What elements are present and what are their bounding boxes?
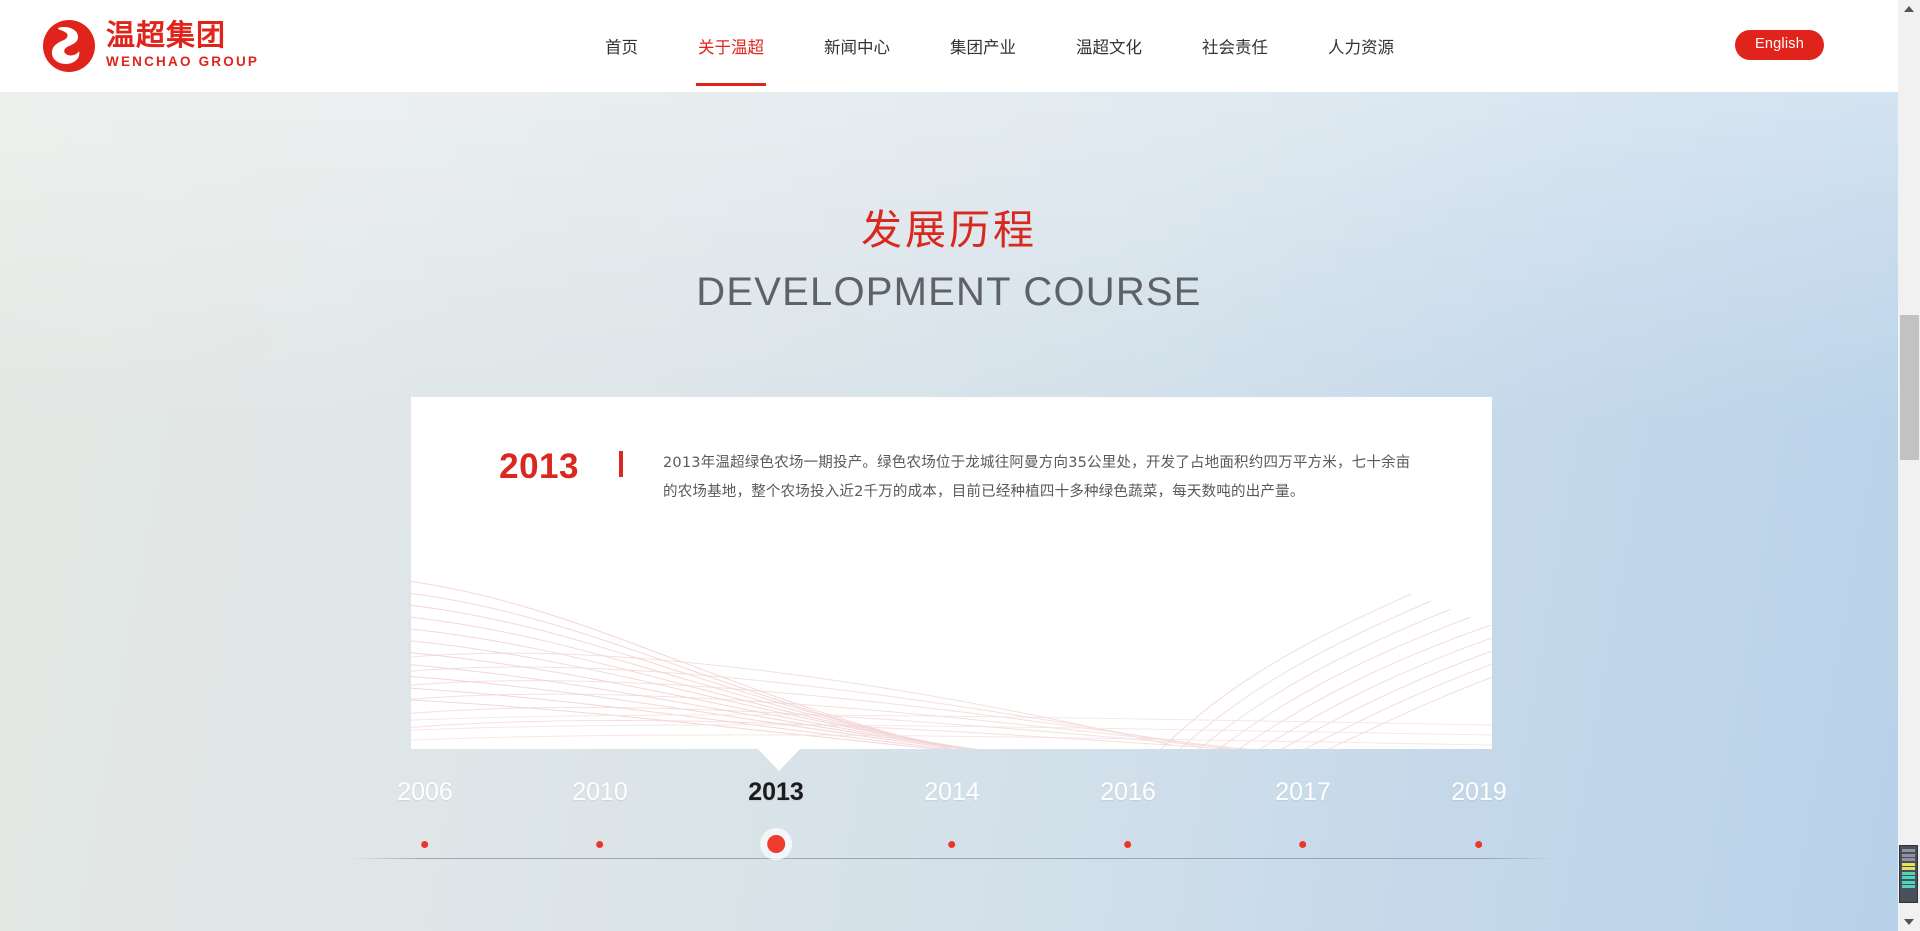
scroll-up-arrow-icon[interactable] <box>1898 0 1920 18</box>
nav-item-label: 人力资源 <box>1328 34 1394 58</box>
nav-item-label: 关于温超 <box>698 34 764 58</box>
timeline-year-label[interactable]: 2016 <box>1100 780 1156 805</box>
nav-item-2[interactable]: 新闻中心 <box>794 0 920 92</box>
timeline-item-2006[interactable]: 2006 <box>397 780 453 848</box>
nav-item-3[interactable]: 集团产业 <box>920 0 1046 92</box>
logo-title-en: WENCHAO GROUP <box>106 52 259 72</box>
gadget-bar-1 <box>1902 854 1915 857</box>
scrollbar-thumb[interactable] <box>1900 315 1919 460</box>
nav-item-1[interactable]: 关于温超 <box>668 0 794 92</box>
timeline-year-label[interactable]: 2017 <box>1275 780 1331 805</box>
nav-item-label: 首页 <box>605 34 638 58</box>
site-header: 温超集团 WENCHAO GROUP 首页关于温超新闻中心集团产业温超文化社会责… <box>0 0 1898 92</box>
nav-item-label: 社会责任 <box>1202 34 1268 58</box>
gadget-bar-0 <box>1902 849 1915 852</box>
gadget-bar-6 <box>1902 876 1915 879</box>
site-logo[interactable]: 温超集团 WENCHAO GROUP <box>42 0 259 92</box>
timeline-item-2019[interactable]: 2019 <box>1451 780 1507 848</box>
gadget-bar-2 <box>1902 858 1915 861</box>
timeline-dot-active[interactable] <box>767 835 785 853</box>
timeline-detail-card: 2013 2013年温超绿色农场一期投产。绿色农场位于龙城往阿曼方向35公里处，… <box>411 397 1492 749</box>
timeline-dot[interactable] <box>1476 841 1483 848</box>
page-title-cn: 发展历程 <box>0 205 1898 256</box>
timeline-item-2016[interactable]: 2016 <box>1100 780 1156 848</box>
nav-item-6[interactable]: 人力资源 <box>1298 0 1424 92</box>
nav-item-5[interactable]: 社会责任 <box>1172 0 1298 92</box>
main-navigation: 首页关于温超新闻中心集团产业温超文化社会责任人力资源 <box>575 0 1424 92</box>
timeline-dot[interactable] <box>597 841 604 848</box>
timeline-track: 2006201020132014201620172019 <box>0 780 1898 890</box>
page-viewport: 温超集团 WENCHAO GROUP 首页关于温超新闻中心集团产业温超文化社会责… <box>0 0 1920 931</box>
gadget-bar-5 <box>1902 872 1915 875</box>
timeline-year-label[interactable]: 2006 <box>397 780 453 805</box>
page-title-block: 发展历程 DEVELOPMENT COURSE <box>0 205 1898 322</box>
timeline-item-2013[interactable]: 2013 <box>748 780 804 853</box>
timeline-dot[interactable] <box>949 841 956 848</box>
gadget-bar-8 <box>1902 885 1915 888</box>
scroll-down-arrow-icon[interactable] <box>1898 913 1920 931</box>
card-pointer-arrow <box>758 749 800 771</box>
language-switch-button[interactable]: English <box>1735 30 1824 60</box>
wenchao-logo-icon <box>42 19 96 73</box>
timeline-line <box>350 858 1556 859</box>
gadget-bar-3 <box>1902 863 1915 866</box>
timeline-year-label[interactable]: 2014 <box>924 780 980 805</box>
card-year: 2013 <box>411 449 579 507</box>
timeline-item-2010[interactable]: 2010 <box>572 780 628 848</box>
timeline-dot[interactable] <box>1125 841 1132 848</box>
timeline-year-label[interactable]: 2013 <box>748 780 804 805</box>
decorative-wave-pattern <box>411 539 1492 749</box>
nav-item-label: 温超文化 <box>1076 34 1142 58</box>
card-description: 2013年温超绿色农场一期投产。绿色农场位于龙城往阿曼方向35公里处，开发了占地… <box>663 449 1492 507</box>
logo-title-cn: 温超集团 <box>106 20 259 50</box>
page-scrollbar[interactable] <box>1898 0 1920 931</box>
timeline-dot[interactable] <box>422 841 429 848</box>
timeline-item-2014[interactable]: 2014 <box>924 780 980 848</box>
timeline-year-label[interactable]: 2019 <box>1451 780 1507 805</box>
year-separator <box>579 449 663 507</box>
page-title-en: DEVELOPMENT COURSE <box>0 262 1898 322</box>
timeline-year-label[interactable]: 2010 <box>572 780 628 805</box>
timeline-dot[interactable] <box>1300 841 1307 848</box>
gadget-bar-7 <box>1902 881 1915 884</box>
timeline-detail-row: 2013 2013年温超绿色农场一期投产。绿色农场位于龙城往阿曼方向35公里处，… <box>411 449 1492 507</box>
nav-item-label: 新闻中心 <box>824 34 890 58</box>
nav-item-4[interactable]: 温超文化 <box>1046 0 1172 92</box>
nav-item-label: 集团产业 <box>950 34 1016 58</box>
system-monitor-gadget[interactable] <box>1899 845 1918 903</box>
gadget-bar-4 <box>1902 867 1915 870</box>
nav-item-0[interactable]: 首页 <box>575 0 668 92</box>
timeline-item-2017[interactable]: 2017 <box>1275 780 1331 848</box>
